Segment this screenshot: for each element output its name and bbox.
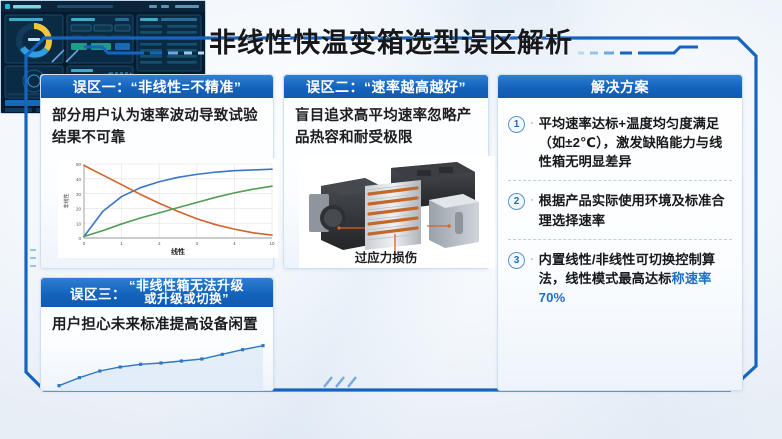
panel-misconception-2: 误区二：“速率越高越好” 盲目追求高平均速率忽略产品热容和耐受极限 [283,74,489,269]
panel-3-header-label: 误区三： [70,283,126,303]
title-decoration-left [84,44,234,56]
panel-2-header: 误区二：“速率越高越好” [284,75,488,98]
panel-2-caption: 过应力损伤 [299,247,473,266]
panel-misconception-3: 误区三： “非线性箱无法升级 或升级或切换” 用户担心未来标准提高设备闲置 [40,277,274,391]
solution-list: 1·平均速率达标+温度均匀度满足（如±2℃），激发缺陷能力与线性箱无明显差异2·… [498,98,742,316]
solution-item: 2·根据产品实际使用环境及标准合理选择速率 [508,180,732,238]
panel-1-body: 部分用户认为速率波动导致试验结果不可靠 010203040500123410线性… [41,98,273,258]
bullet-dot-icon: · [530,117,534,171]
solution-item: 1·平均速率达标+温度均匀度满足（如±2℃），激发缺陷能力与线性箱无明显差异 [508,108,732,180]
bullet-dot-icon: · [530,194,534,229]
svg-text:10: 10 [269,241,275,246]
svg-text:20: 20 [76,206,82,211]
panel-2-photo: 过应力损伤 [299,156,473,268]
panel-solutions: 解决方案 1·平均速率达标+温度均匀度满足（如±2℃），激发缺陷能力与线性箱无明… [497,74,743,391]
panel-3-chart [41,335,273,397]
page-title-wrap: 非线性快温变箱选型误区解析 [0,18,782,62]
bullet-dot-icon: · [530,253,534,307]
solution-text: 根据产品实际使用环境及标准合理选择速率 [539,191,732,229]
solution-number-badge: 2 [508,193,525,210]
svg-text:40: 40 [76,177,82,182]
panel-3-text: 用户担心未来标准提高设备闲置 [52,315,262,337]
panel-5-header: 解决方案 [498,75,742,98]
line-chart: 010203040500123410线性非线性 [58,158,278,258]
area-chart [41,335,273,397]
svg-text:线性: 线性 [171,247,185,256]
panel-1-chart: 010203040500123410线性非线性 [58,158,256,258]
panel-1-header: 误区一：“非线性=不精准” [41,75,273,98]
svg-text:30: 30 [76,191,82,196]
solution-number-badge: 3 [508,252,525,269]
panel-3-header-quote: “非线性箱无法升级 或升级或切换” [129,279,244,307]
svg-text:50: 50 [76,162,82,167]
solution-highlight: 称速率70% [539,271,712,305]
svg-text:10: 10 [76,221,82,226]
solution-text: 平均速率达标+温度均匀度满足（如±2℃），激发缺陷能力与线性箱无明显差异 [539,114,732,171]
solution-text: 内置线性/非线性可切换控制算法，线性模式最高达标称速率70% [539,250,732,307]
solution-item: 3·内置线性/非线性可切换控制算法，线性模式最高达标称速率70% [508,239,732,316]
panel-1-text: 部分用户认为速率波动导致试验结果不可靠 [52,106,262,150]
solution-number-badge: 1 [508,116,525,133]
panel-3-body: 用户担心未来标准提高设备闲置 [41,307,273,397]
page-title: 非线性快温变箱选型误区解析 [209,21,573,60]
title-decoration-right [548,44,698,56]
panel-3-header: 误区三： “非线性箱无法升级 或升级或切换” [41,278,273,307]
panel-3-header-line2: 或升级或切换” [129,293,244,307]
panel-misconception-1: 误区一：“非线性=不精准” 部分用户认为速率波动导致试验结果不可靠 010203… [40,74,274,269]
panel-3-header-line1: “非线性箱无法升级 [129,279,244,293]
panel-2-text: 盲目追求高平均速率忽略产品热容和耐受极限 [295,106,477,150]
panel-2-body: 盲目追求高平均速率忽略产品热容和耐受极限 [284,98,488,268]
svg-text:非线性: 非线性 [63,193,70,208]
